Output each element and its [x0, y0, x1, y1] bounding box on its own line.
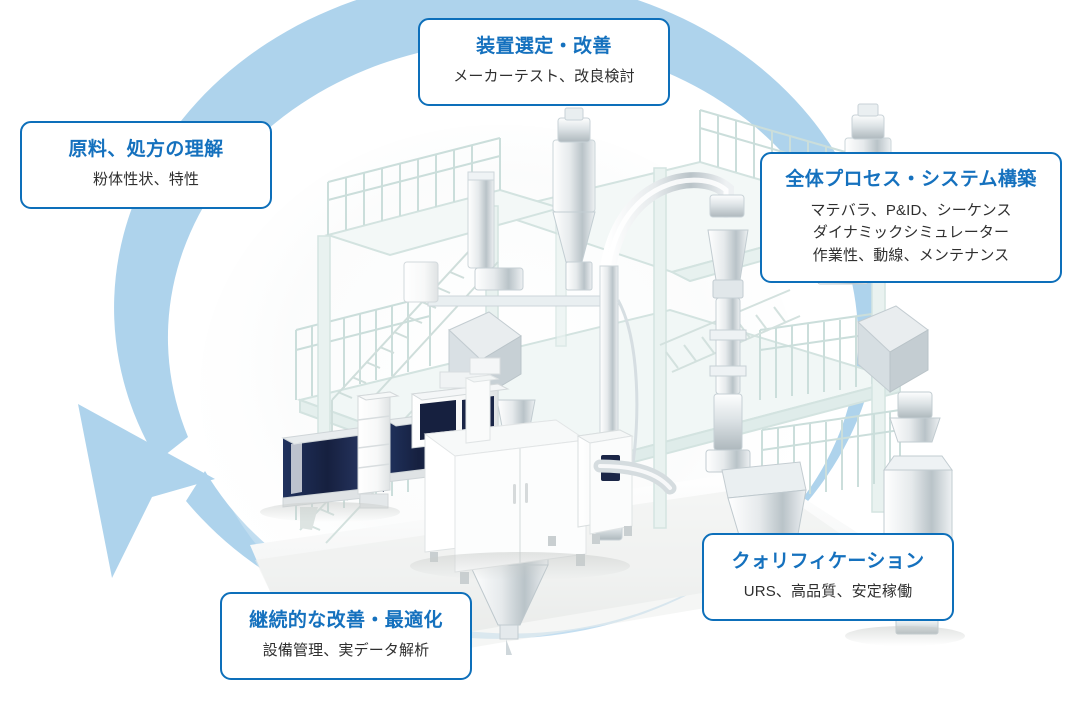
callout-title: 継続的な改善・最適化 — [249, 609, 443, 633]
cabinet-shadow — [410, 552, 630, 580]
right-shadow — [845, 626, 965, 646]
left-shadow — [260, 502, 400, 522]
callout-title: 全体プロセス・システム構築 — [785, 168, 1036, 192]
callout-continuous-improvement[interactable]: 継続的な改善・最適化 設備管理、実データ解析 — [220, 592, 472, 680]
callout-title: クォリフィケーション — [731, 550, 924, 574]
callout-total-process-system[interactable]: 全体プロセス・システム構築 マテバラ、P&ID、シーケンス ダイナミックシミュレ… — [760, 152, 1062, 283]
callout-subtitle: 粉体性状、特性 — [93, 169, 199, 192]
callout-subtitle: マテバラ、P&ID、シーケンス ダイナミックシミュレーター 作業性、動線、メンテ… — [810, 200, 1011, 268]
callout-equipment-selection[interactable]: 装置選定・改善 メーカーテスト、改良検討 — [418, 18, 670, 106]
callout-material-understanding[interactable]: 原料、処方の理解 粉体性状、特性 — [20, 121, 272, 209]
diagram-canvas: 装置選定・改善 メーカーテスト、改良検討 原料、処方の理解 粉体性状、特性 全体… — [0, 0, 1080, 701]
callout-subtitle: メーカーテスト、改良検討 — [453, 66, 635, 89]
callout-title: 原料、処方の理解 — [68, 138, 223, 162]
callout-subtitle: URS、高品質、安定稼働 — [744, 581, 912, 604]
callout-qualification[interactable]: クォリフィケーション URS、高品質、安定稼働 — [702, 533, 954, 621]
callout-subtitle: 設備管理、実データ解析 — [263, 640, 430, 663]
callout-title: 装置選定・改善 — [476, 35, 612, 59]
